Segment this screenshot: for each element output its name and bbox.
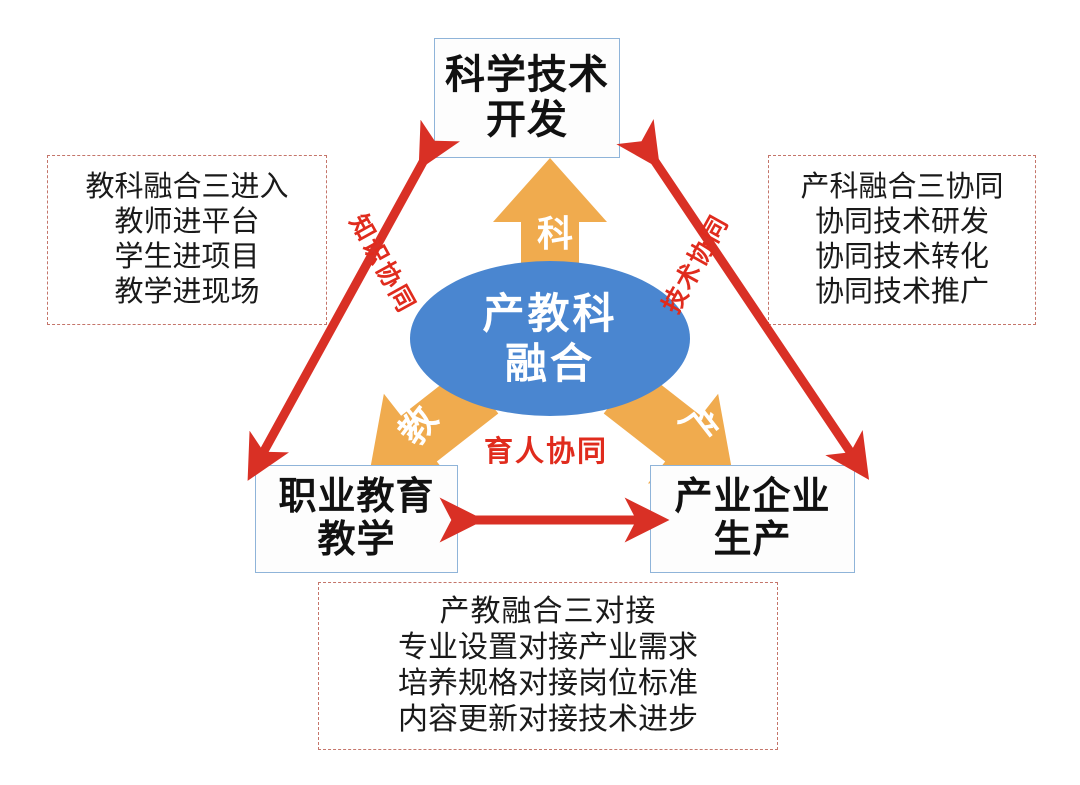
red-arrow-layer — [0, 0, 1080, 785]
diagram-canvas: 科 教 产 产教科 融合 科学技术 开发 职业教育 教学 产业企业 生产 教科融… — [0, 0, 1080, 785]
edge-label-talent-cultivation-collaboration: 育人协同 — [484, 428, 608, 470]
